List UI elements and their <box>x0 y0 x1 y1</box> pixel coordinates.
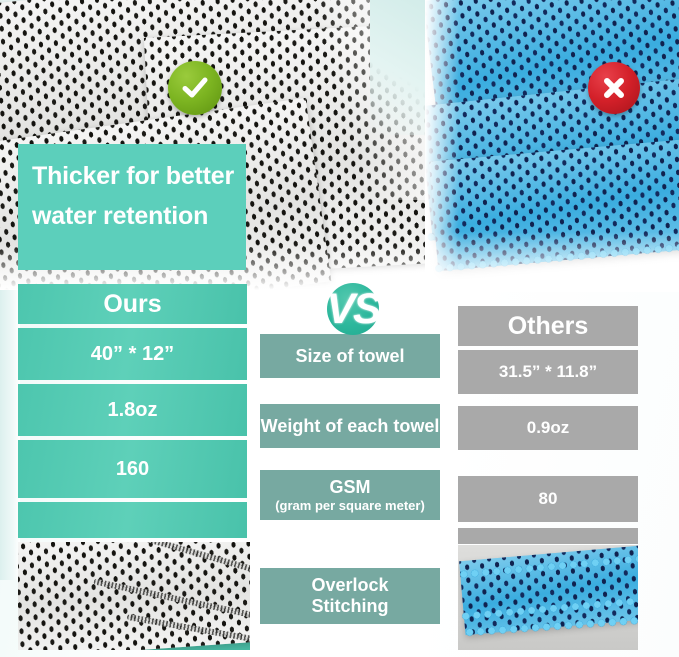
others-value-size: 31.5” * 11.8” <box>458 350 638 394</box>
ours-stitching-photo <box>18 542 250 650</box>
headline-banner: Thicker for better water retention <box>18 144 246 270</box>
row-label-weight: Weight of each towel <box>260 404 440 448</box>
row-label-gsm: GSM (gram per square meter) <box>260 470 440 520</box>
others-column-header: Others <box>458 306 638 346</box>
photo-corner-wedge <box>370 0 430 135</box>
others-value-stitching <box>458 528 638 544</box>
others-towel-photo <box>425 0 679 292</box>
others-value-gsm: 80 <box>458 476 638 522</box>
check-icon <box>168 61 222 115</box>
row-label-size: Size of towel <box>260 334 440 378</box>
row-label-stitching: Overlock Stitching <box>260 568 440 624</box>
ours-value-gsm: 160 <box>18 440 247 498</box>
ours-column-header: Ours <box>18 284 247 324</box>
ours-value-weight: 1.8oz <box>18 384 247 436</box>
row-label-stitching-main: Overlock <box>311 575 388 595</box>
ours-value-stitching <box>18 502 247 538</box>
close-icon <box>588 62 640 114</box>
headline-line-1: Thicker for better <box>32 156 232 196</box>
ours-value-size: 40” * 12” <box>18 328 247 380</box>
row-label-stitching-sub: Stitching <box>311 596 388 617</box>
headline-line-2: water retention <box>32 196 232 236</box>
row-label-gsm-sub: (gram per square meter) <box>275 498 425 513</box>
others-value-weight: 0.9oz <box>458 406 638 450</box>
row-label-gsm-main: GSM <box>329 477 370 497</box>
photo-fade <box>425 232 679 292</box>
versus-label: VS <box>302 285 404 333</box>
product-comparison-infographic: Thicker for better water retention VS Ou… <box>0 0 679 657</box>
others-stitching-photo <box>458 545 638 650</box>
